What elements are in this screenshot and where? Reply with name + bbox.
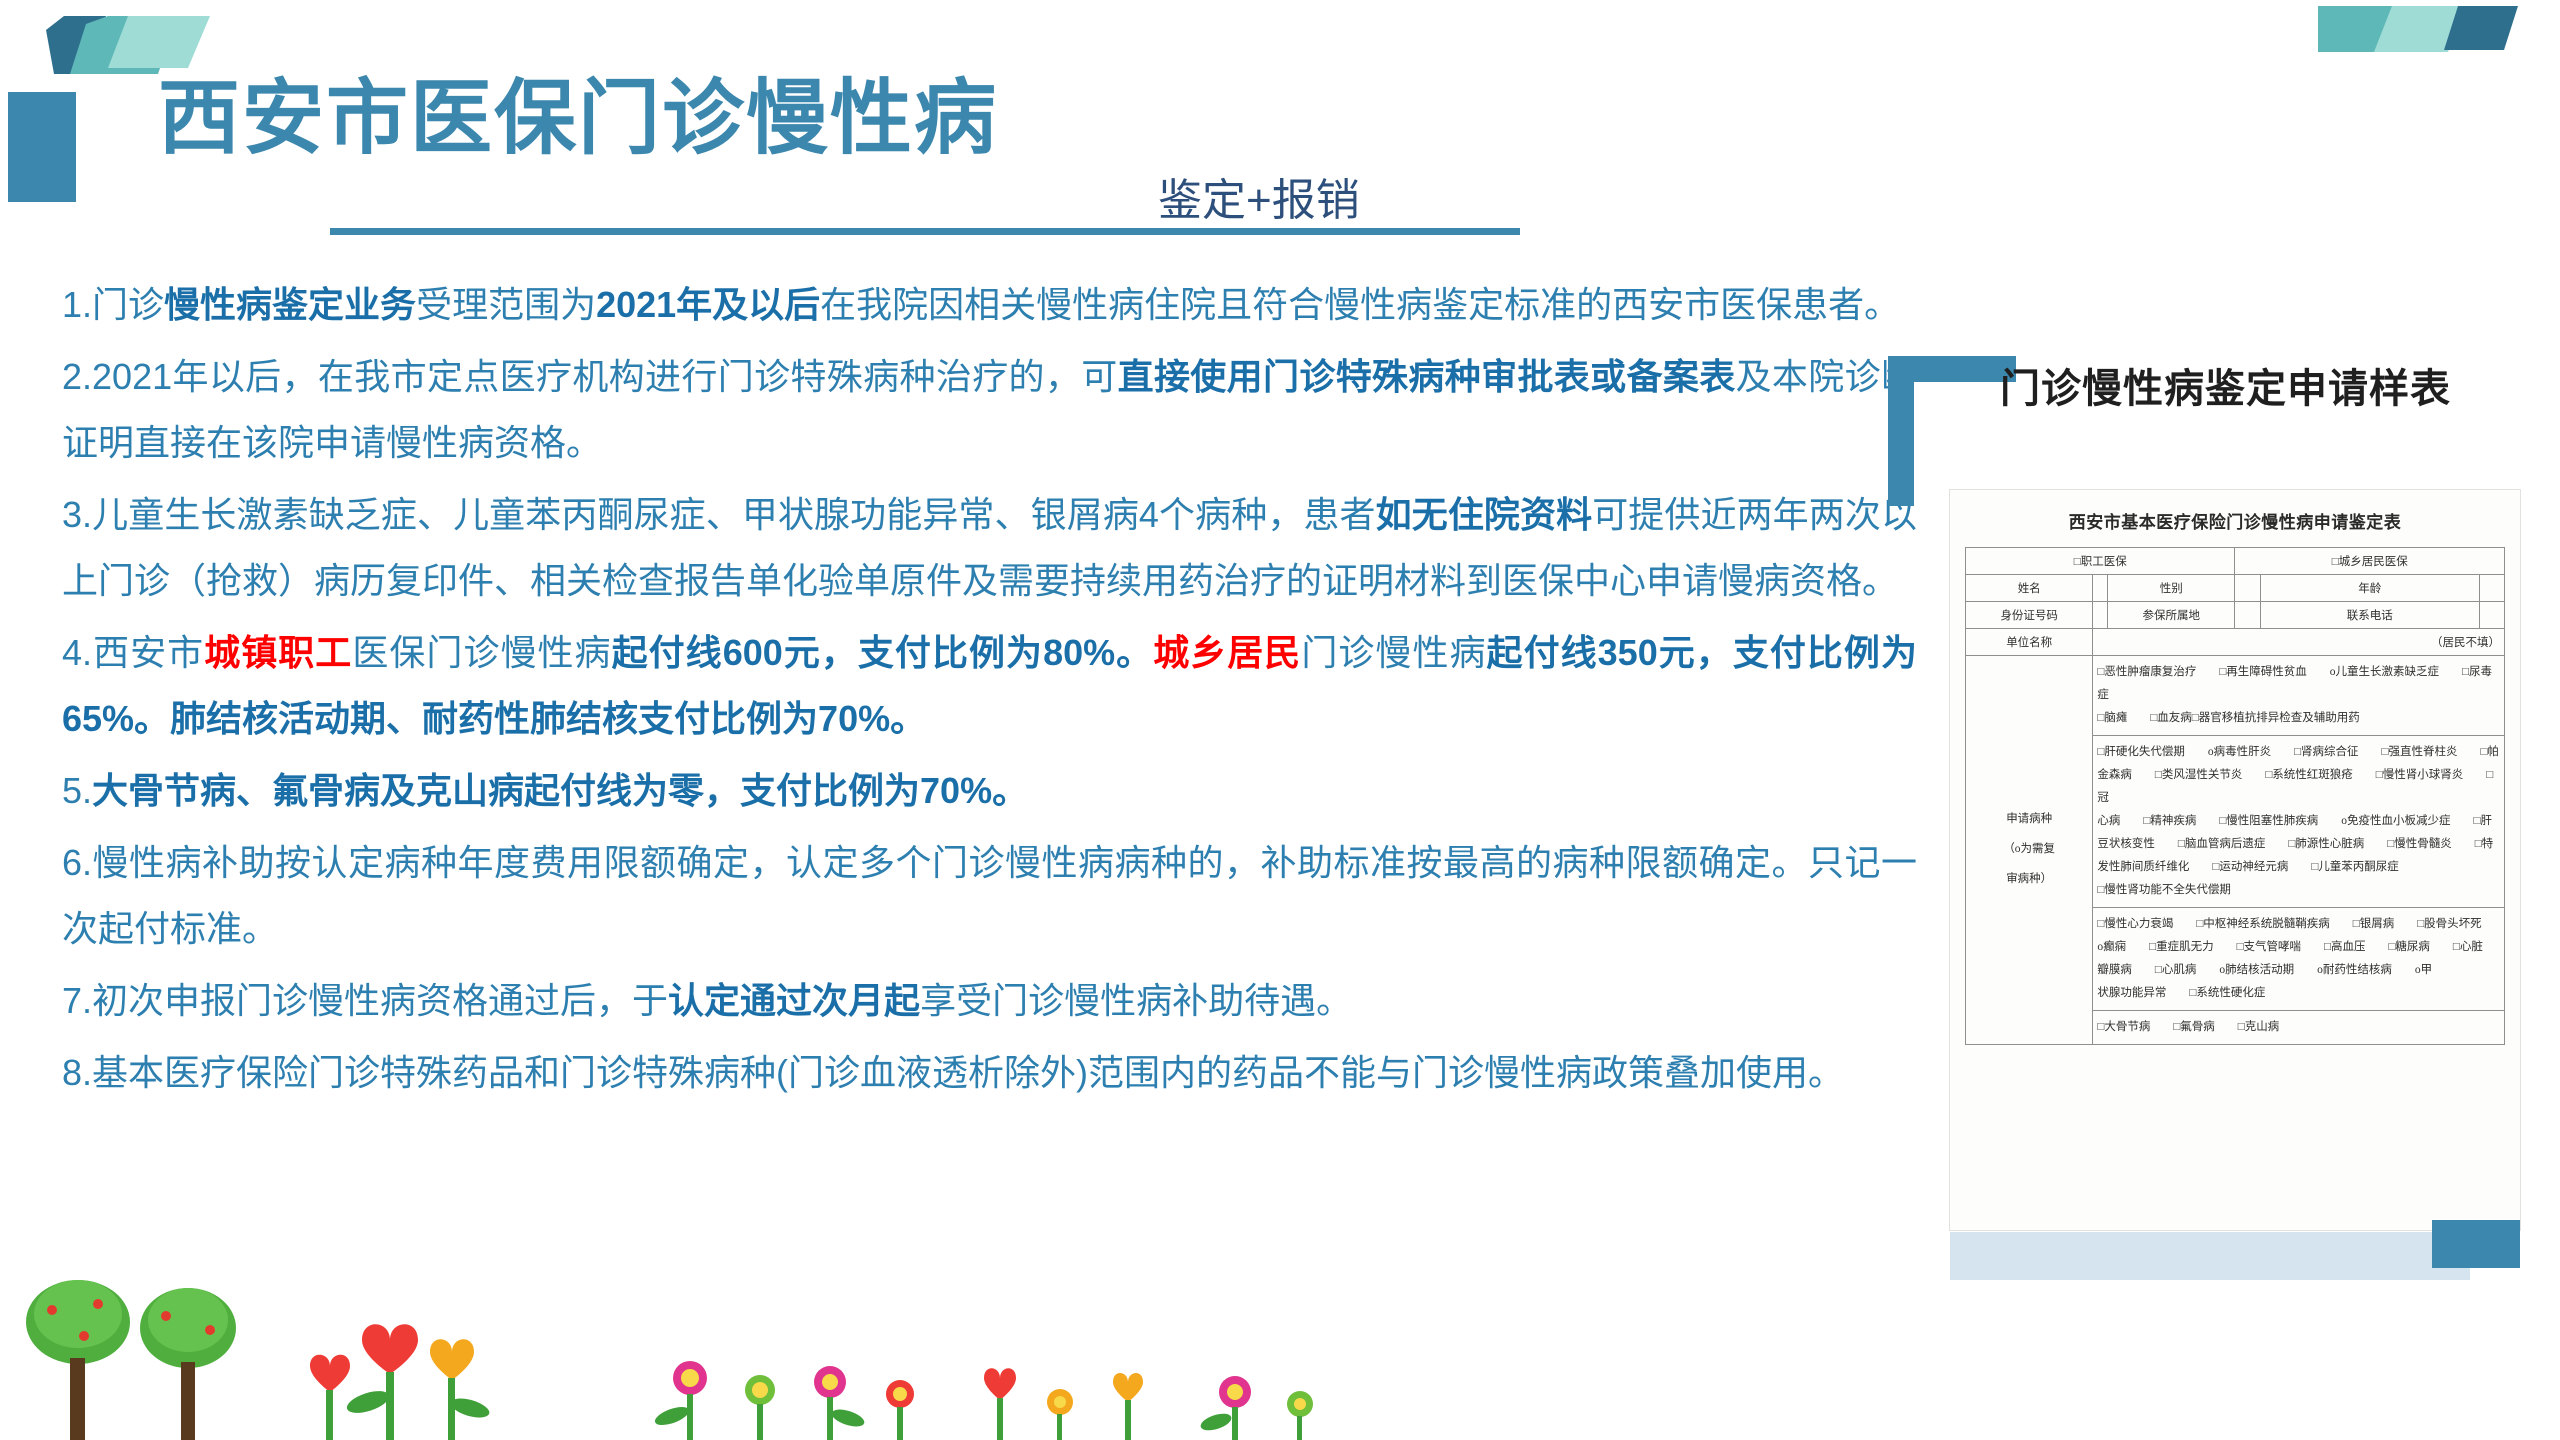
panel-footer-accent [2432, 1220, 2520, 1268]
form-disease-line: 发性肺间质纤维化 □运动神经元病 □儿童苯丙酮尿症 [2097, 856, 2500, 879]
title-underline [330, 228, 1520, 235]
form-disease-line: □恶性肿瘤康复治疗 □再生障碍性贫血 о儿童生长激素缺乏症 □尿毒症 [2097, 661, 2500, 707]
form-unit-note: （居民不填） [2431, 634, 2500, 650]
panel-corner-left-accent [1888, 356, 1914, 506]
policy-item-text: 医保门诊慢性病 [352, 632, 611, 673]
page-subtitle: 鉴定+报销 [1158, 164, 1360, 228]
policy-item-text: 慢性病鉴定业务 [164, 284, 416, 325]
policy-item-index: 4. [62, 632, 92, 673]
policy-item: 4.西安市城镇职工医保门诊慢性病起付线600元，支付比例为80%。城乡居民门诊慢… [62, 620, 1917, 752]
panel-title: 门诊慢性病鉴定申请样表 [2000, 356, 2451, 414]
form-sample-image: 西安市基本医疗保险门诊慢性病申请鉴定表 □职工医保□城乡居民医保姓名性别年龄身份… [1950, 490, 2520, 1230]
form-label: 单位名称 [1966, 629, 2093, 656]
policy-item-index: 8. [62, 1052, 92, 1093]
form-disease-line: □肝硬化失代偿期 о病毒性肝炎 □肾病综合征 □强直性脊柱炎 □帕 [2097, 741, 2500, 764]
form-disease-line: 豆状核变性 □脑血管病后遗症 □肺源性心脏病 □慢性骨髓炎 □特 [2097, 833, 2500, 856]
policy-item: 6.慢性病补助按认定病种年度费用限额确定，认定多个门诊慢性病病种的，补助标准按最… [62, 830, 1917, 962]
policy-item-text: 在我院因相关慢性病住院且符合慢性病鉴定标准的西安市医保患者。 [820, 284, 1900, 325]
form-disease-line: □大骨节病 □氟骨病 □克山病 [2097, 1016, 2500, 1039]
form-label-disease: 申请病种（о为需复审病种） [1966, 656, 2093, 1045]
insurance-option-0: □职工医保 [1966, 548, 2235, 575]
policy-item-text: 起付线600元，支付比例为80%。 [612, 632, 1154, 673]
form-input-cell [2479, 602, 2504, 629]
form-disease-line: 金森病 □类风湿性关节炎 □系统性红斑狼疮 □慢性肾小球肾炎 □冠 [2097, 764, 2500, 810]
policy-item-text: 2021年及以后 [596, 284, 820, 325]
form-row-insurance-type: □职工医保□城乡居民医保 [1966, 548, 2505, 575]
form-input-cell [2479, 575, 2504, 602]
insurance-option-1: □城乡居民医保 [2235, 548, 2505, 575]
form-disease-line: □脑瘫 □血友病□器官移植抗排异检查及辅助用药 [2097, 707, 2500, 730]
policy-item-text: 门诊慢性病 [1301, 632, 1486, 673]
table-row: 姓名性别年龄 [1966, 575, 2505, 602]
table-row: 身份证号码参保所属地联系电话 [1966, 602, 2505, 629]
policy-item-text: 儿童生长激素缺乏症、儿童苯丙酮尿症、甲状腺功能异常、银屑病4个病种，患者 [92, 494, 1376, 535]
policy-list: 1.门诊慢性病鉴定业务受理范围为2021年及以后在我院因相关慢性病住院且符合慢性… [62, 272, 1917, 1112]
policy-item: 8.基本医疗保险门诊特殊药品和门诊特殊病种(门诊血液透析除外)范围内的药品不能与… [62, 1040, 1917, 1106]
policy-item-text: 慢性病补助按认定病种年度费用限额确定，认定多个门诊慢性病病种的，补助标准按最高的… [62, 842, 1917, 949]
decorative-garden-illustration [0, 1270, 1400, 1440]
form-input-cell [2093, 602, 2108, 629]
policy-item: 1.门诊慢性病鉴定业务受理范围为2021年及以后在我院因相关慢性病住院且符合慢性… [62, 272, 1917, 338]
policy-item: 2.2021年以后，在我市定点医疗机构进行门诊特殊病种治疗的，可直接使用门诊特殊… [62, 344, 1917, 476]
policy-item-index: 2. [62, 356, 92, 397]
form-label-disease-line: （о为需复 [1970, 835, 2088, 865]
form-input-cell [2093, 575, 2108, 602]
policy-item-index: 1. [62, 284, 92, 325]
form-input-cell [2235, 575, 2260, 602]
form-label: 姓名 [1966, 575, 2093, 602]
form-label-disease-line: 申请病种 [1970, 805, 2088, 835]
panel-footer-band [1950, 1232, 2470, 1280]
policy-item: 5.大骨节病、氟骨病及克山病起付线为零，支付比例为70%。 [62, 758, 1917, 824]
form-disease-line: □慢性肾功能不全失代偿期 [2097, 879, 2500, 902]
policy-item-text: 直接使用门诊特殊病种审批表或备案表 [1118, 356, 1736, 397]
policy-item-text: 门诊 [92, 284, 164, 325]
form-row-unit-name: 单位名称（居民不填） [1966, 629, 2505, 656]
ribbon-top-left-icon [46, 16, 266, 78]
form-title: 西安市基本医疗保险门诊慢性病申请鉴定表 [1950, 490, 2520, 547]
title-accent-bar [8, 92, 76, 202]
policy-item-text: 2021年以后，在我市定点医疗机构进行门诊特殊病种治疗的，可 [92, 356, 1118, 397]
form-row-disease-group: 申请病种（о为需复审病种）□恶性肿瘤康复治疗 □再生障碍性贫血 о儿童生长激素缺… [1966, 656, 2505, 736]
policy-item-index: 6. [62, 842, 92, 883]
policy-item-text: 西安市 [92, 632, 204, 673]
form-label: 参保所属地 [2108, 602, 2235, 629]
form-disease-options: □肝硬化失代偿期 о病毒性肝炎 □肾病综合征 □强直性脊柱炎 □帕金森病 □类风… [2093, 736, 2505, 908]
policy-item-index: 5. [62, 770, 92, 811]
form-disease-line: о癫痫 □重症肌无力 □支气管哮喘 □高血压 □糖尿病 □心脏 [2097, 936, 2500, 959]
policy-item-text: 享受门诊慢性病补助待遇。 [920, 980, 1352, 1021]
policy-item: 7.初次申报门诊慢性病资格通过后，于认定通过次月起享受门诊慢性病补助待遇。 [62, 968, 1917, 1034]
policy-item-text: 城乡居民 [1153, 632, 1301, 673]
policy-item-index: 3. [62, 494, 92, 535]
form-disease-line: □慢性心力衰竭 □中枢神经系统脱髓鞘疾病 □银屑病 □股骨头坏死 [2097, 913, 2500, 936]
form-label: 性别 [2108, 575, 2235, 602]
policy-item: 3.儿童生长激素缺乏症、儿童苯丙酮尿症、甲状腺功能异常、银屑病4个病种，患者如无… [62, 482, 1917, 614]
form-label-disease-line: 审病种） [1970, 865, 2088, 895]
form-input-cell: （居民不填） [2093, 629, 2505, 656]
form-disease-options: □恶性肿瘤康复治疗 □再生障碍性贫血 о儿童生长激素缺乏症 □尿毒症□脑瘫 □血… [2093, 656, 2505, 736]
form-disease-line: 心病 □精神疾病 □慢性阻塞性肺疾病 о免疫性血小板减少症 □肝 [2097, 810, 2500, 833]
policy-item-text: 受理范围为 [416, 284, 596, 325]
policy-item-index: 7. [62, 980, 92, 1021]
policy-item-text: 基本医疗保险门诊特殊药品和门诊特殊病种(门诊血液透析除外)范围内的药品不能与门诊… [92, 1052, 1844, 1093]
form-input-cell [2235, 602, 2260, 629]
form-disease-options: □慢性心力衰竭 □中枢神经系统脱髓鞘疾病 □银屑病 □股骨头坏死о癫痫 □重症肌… [2093, 908, 2505, 1011]
policy-item-text: 城镇职工 [204, 632, 352, 673]
form-label: 年龄 [2260, 575, 2479, 602]
ribbon-top-right-icon [2318, 6, 2518, 66]
form-label: 联系电话 [2260, 602, 2479, 629]
policy-item-text: 大骨节病、氟骨病及克山病起付线为零，支付比例为70%。 [92, 770, 1028, 811]
form-label: 身份证号码 [1966, 602, 2093, 629]
policy-item-text: 初次申报门诊慢性病资格通过后，于 [92, 980, 668, 1021]
form-disease-line: 状腺功能异常 □系统性硬化症 [2097, 982, 2500, 1005]
form-disease-options: □大骨节病 □氟骨病 □克山病 [2093, 1011, 2505, 1045]
page-title: 西安市医保门诊慢性病 [158, 74, 998, 164]
policy-item-text: 如无住院资料 [1376, 494, 1593, 535]
policy-item-text: 认定通过次月起 [668, 980, 920, 1021]
application-form-table: □职工医保□城乡居民医保姓名性别年龄身份证号码参保所属地联系电话单位名称（居民不… [1965, 547, 2505, 1045]
form-disease-line: 瓣膜病 □心肌病 о肺结核活动期 о耐药性结核病 о甲 [2097, 959, 2500, 982]
